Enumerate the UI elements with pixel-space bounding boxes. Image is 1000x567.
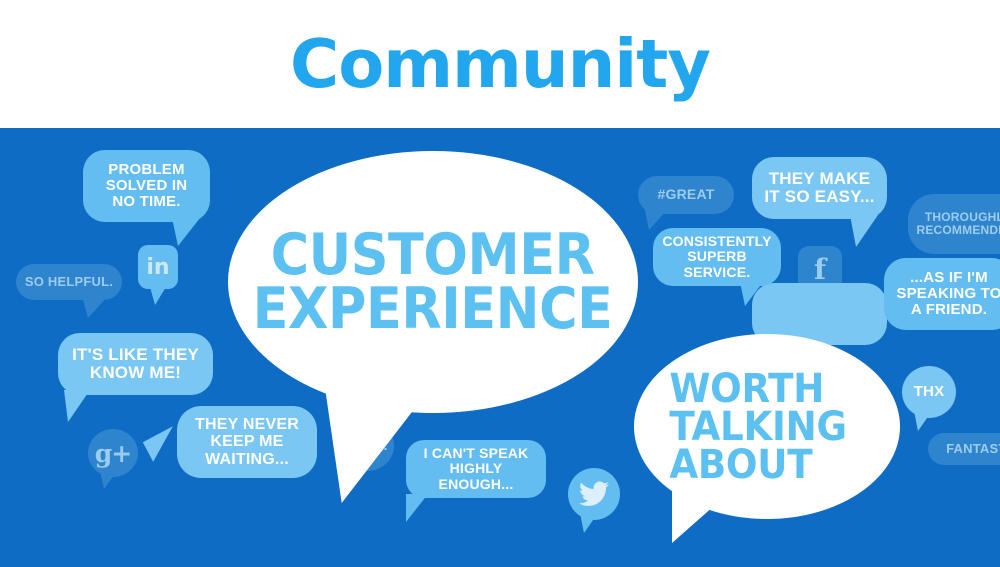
facebook-icon: f — [814, 253, 826, 286]
googleplus-icon: g+ — [95, 439, 131, 468]
bubble-tail — [580, 513, 598, 533]
quote-text: CONSISTENTLYSUPERB SERVICE. — [653, 234, 781, 279]
page-header: Community — [0, 0, 1000, 128]
quote-text: IT'S LIKE THEYKNOW ME! — [66, 346, 205, 383]
quote-text: THX — [908, 384, 951, 400]
quote-text: #GREAT — [652, 187, 721, 202]
bubble-tail — [645, 210, 667, 230]
bubble-tail — [100, 471, 117, 489]
quote-text: SO HELPFUL. — [19, 275, 119, 289]
quote-bubble-so-helpful: SO HELPFUL. — [16, 264, 122, 300]
bubble-tail — [850, 215, 878, 247]
bubble-tail — [82, 296, 108, 318]
bubble-canvas: SO HELPFUL. #GREAT THOROUGHLYRECOMMENDED… — [0, 128, 1000, 567]
quote-text: THEY NEVERKEEP MEWAITING... — [189, 416, 305, 468]
community-infographic: Community SO HELPFUL. #GREAT THOROUGHLYR… — [0, 0, 1000, 567]
quote-bubble-great-hashtag: #GREAT — [638, 176, 734, 214]
linkedin-icon: in — [146, 255, 169, 280]
quote-bubble-thoroughly-recommended: THOROUGHLYRECOMMENDED! — [908, 194, 1000, 254]
bubble-tail — [740, 282, 763, 306]
quote-text: PROBLEMSOLVED INNO TIME. — [100, 162, 194, 211]
quote-bubble-they-never-keep-me: THEY NEVERKEEP MEWAITING... — [177, 406, 317, 478]
quote-bubble-they-make-it-so-easy: THEY MAKEIT SO EASY... — [752, 157, 887, 219]
quote-text: FANTASTIC — [940, 442, 1000, 456]
quote-bubble-as-if-speaking-friend: ...AS IF I'MSPEAKING TOA FRIEND. — [884, 258, 1000, 330]
quote-text: I CAN'T SPEAKHIGHLY ENOUGH... — [406, 446, 546, 491]
headline-text: WORTHTALKINGABOUT — [634, 370, 847, 484]
quote-bubble-fantastic: FANTASTIC — [928, 433, 1000, 465]
quote-bubble-problem-solved: PROBLEMSOLVED INNO TIME. — [83, 150, 210, 222]
headline-bubble-worth-talking-about: WORTHTALKINGABOUT — [634, 334, 900, 519]
bubble-tail — [150, 287, 166, 305]
quote-bubble-consistently-superb: CONSISTENTLYSUPERB SERVICE. — [653, 228, 781, 286]
bubble-tail — [64, 390, 90, 422]
headline-bubble-customer-experience: CUSTOMEREXPERIENCE — [228, 151, 638, 413]
bubble-tail — [914, 411, 932, 431]
quote-text: THOROUGHLYRECOMMENDED! — [910, 211, 1000, 237]
twitter-icon — [579, 481, 609, 507]
social-bubble-linkedin[interactable]: in — [138, 245, 178, 289]
quote-text: THEY MAKEIT SO EASY... — [758, 170, 880, 207]
headline-text: CUSTOMEREXPERIENCE — [253, 228, 613, 336]
quote-text: ...AS IF I'MSPEAKING TOA FRIEND. — [890, 270, 1000, 319]
page-title: Community — [290, 31, 710, 98]
bubble-tail — [172, 218, 200, 246]
quote-bubble-its-like-they-know-me: IT'S LIKE THEYKNOW ME! — [58, 333, 213, 395]
social-bubble-googleplus[interactable]: g+ — [88, 429, 138, 477]
